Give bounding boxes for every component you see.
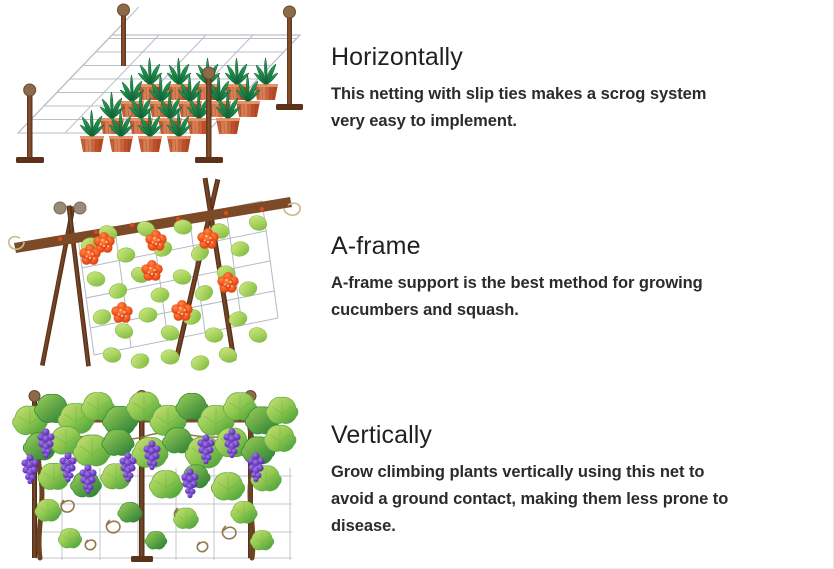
vertical-grape-trellis-illustration (0, 380, 320, 569)
post-back-right (276, 6, 303, 110)
pole-left-pair (40, 202, 91, 367)
horizontal-scrog-illustration (0, 0, 320, 180)
description-line: Grow climbing plants vertically using th… (331, 459, 751, 486)
heading-horizontally: Horizontally (331, 44, 731, 70)
copy-a-frame: A-frame A-frame support is the best meth… (331, 233, 731, 324)
description-a-frame: A-frame support is the best method for g… (331, 270, 731, 323)
heading-vertically: Vertically (331, 422, 751, 448)
description-line: A-frame support is the best method for g… (331, 270, 731, 297)
description-line: cucumbers and squash. (331, 297, 731, 324)
copy-horizontally: Horizontally This netting with slip ties… (331, 44, 731, 135)
section-horizontally: Horizontally This netting with slip ties… (0, 0, 834, 180)
section-vertically: Vertically Grow climbing plants vertical… (0, 380, 834, 569)
description-vertically: Grow climbing plants vertically using th… (331, 459, 751, 539)
copy-vertically: Vertically Grow climbing plants vertical… (331, 422, 751, 539)
description-line: disease. (331, 513, 751, 540)
description-line: very easy to implement. (331, 108, 731, 135)
description-line: This netting with slip ties makes a scro… (331, 81, 731, 108)
description-line: avoid a ground contact, making them less… (331, 486, 751, 513)
post-front-left (16, 84, 44, 163)
a-frame-trellis-illustration (0, 183, 320, 378)
heading-a-frame: A-frame (331, 233, 731, 259)
plant-rows (80, 58, 278, 152)
infographic-page: Horizontally This netting with slip ties… (0, 0, 834, 569)
section-a-frame: A-frame A-frame support is the best meth… (0, 183, 834, 378)
description-horizontally: This netting with slip ties makes a scro… (331, 81, 731, 134)
